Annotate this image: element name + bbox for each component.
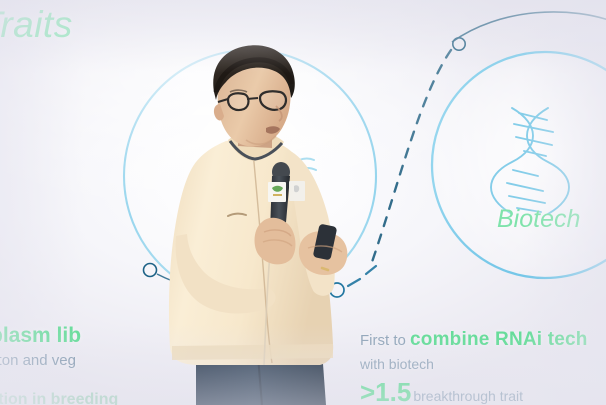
speaker-figure [0, 0, 606, 405]
speaker-head [213, 45, 295, 146]
presentation-photo: & Traits g Biotech g germplasm lib oybea… [0, 0, 606, 405]
mic-flag-logo [268, 182, 286, 202]
